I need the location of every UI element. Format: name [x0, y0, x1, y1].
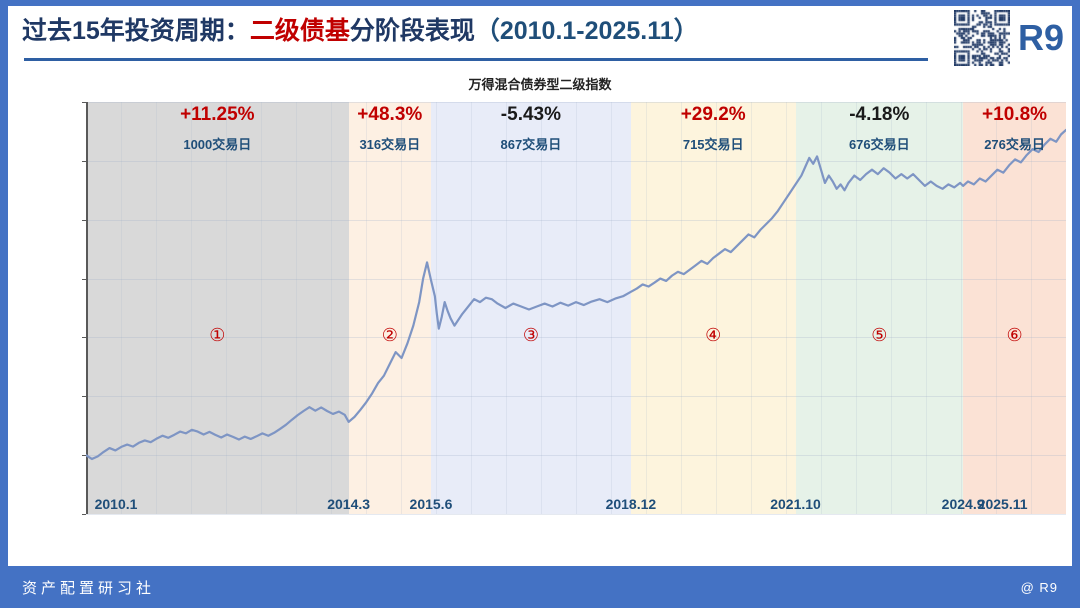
- page-title: 过去15年投资周期：二级债基分阶段表现（2010.1-2025.11）: [22, 14, 1072, 48]
- brand-label: R9: [1018, 18, 1064, 58]
- gridline: [86, 514, 1066, 515]
- title-part1: 过去15年投资周期：: [22, 17, 250, 45]
- x-tick-label: 2015.6: [410, 496, 453, 512]
- stage-return-3: -5.43%: [501, 104, 561, 126]
- stage-return-4: +29.2%: [681, 104, 746, 126]
- chart-container: 万得混合债券型二级指数 120.00%100.00%80.00%60.00%40…: [8, 74, 1072, 562]
- slide-root: 过去15年投资周期：二级债基分阶段表现（2010.1-2025.11） R9 万…: [0, 0, 1080, 608]
- index-line-series: [86, 102, 1066, 514]
- stage-return-6: +10.8%: [982, 104, 1047, 126]
- stage-days-6: 276交易日: [984, 134, 1045, 153]
- footer-brand: 资产配置研习社: [22, 577, 155, 598]
- stage-marker-2: ②: [382, 326, 398, 344]
- x-tick-label: 2021.10: [770, 496, 821, 512]
- stage-return-1: +11.25%: [180, 104, 255, 126]
- stage-marker-3: ③: [523, 326, 539, 344]
- title-divider: [24, 58, 928, 61]
- header: 过去15年投资周期：二级债基分阶段表现（2010.1-2025.11） R9: [8, 6, 1072, 74]
- footer-handle: @ R9: [1021, 580, 1058, 595]
- stage-return-5: -4.18%: [849, 104, 909, 126]
- stage-marker-5: ⑤: [871, 326, 887, 344]
- chart-title: 万得混合债券型二级指数: [8, 74, 1072, 93]
- title-date-range: （2010.1-2025.11）: [475, 17, 699, 45]
- stage-days-5: 676交易日: [849, 134, 910, 153]
- x-tick-label: 2010.1: [95, 496, 138, 512]
- plot-area: 120.00%100.00%80.00%60.00%40.00%20.00%0.…: [86, 102, 1066, 514]
- qr-code-icon: [954, 10, 1010, 66]
- y-tick: [82, 514, 86, 515]
- footer: 资产配置研习社 @ R9: [0, 566, 1080, 608]
- stage-return-2: +48.3%: [357, 104, 422, 126]
- stage-marker-6: ⑥: [1006, 326, 1022, 344]
- x-tick-label: 2018.12: [606, 496, 657, 512]
- stage-days-2: 316交易日: [359, 134, 420, 153]
- brand-block: R9: [954, 10, 1064, 66]
- stage-marker-1: ①: [209, 326, 225, 344]
- stage-marker-4: ④: [705, 326, 721, 344]
- x-tick-label: 2014.3: [327, 496, 370, 512]
- slide-content: 过去15年投资周期：二级债基分阶段表现（2010.1-2025.11） R9 万…: [8, 6, 1072, 566]
- title-highlight: 二级债基: [250, 17, 350, 45]
- x-tick-label: 2025.11: [978, 496, 1028, 512]
- stage-days-3: 867交易日: [501, 134, 562, 153]
- title-part2: 分阶段表现: [350, 17, 475, 45]
- stage-days-4: 715交易日: [683, 134, 744, 153]
- stage-days-1: 1000交易日: [183, 134, 251, 153]
